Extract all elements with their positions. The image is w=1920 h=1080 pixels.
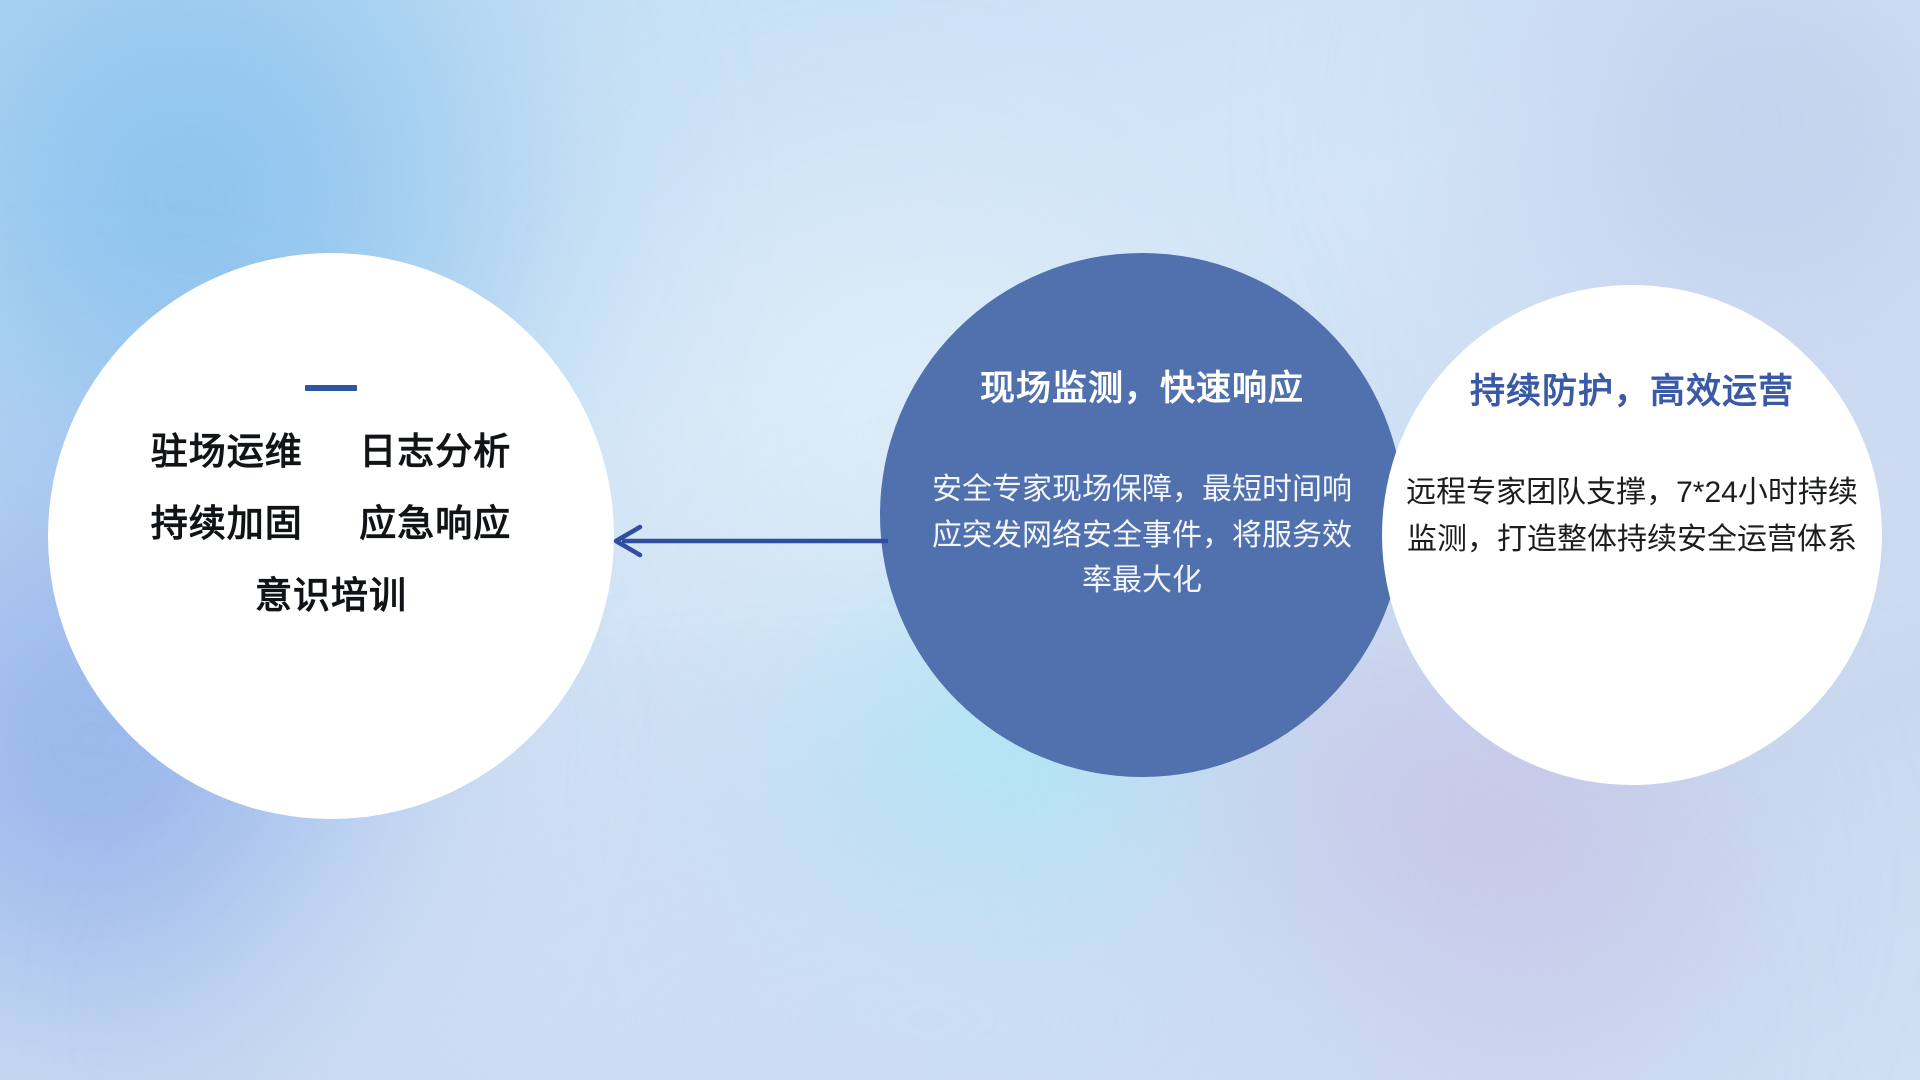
continuous-protection-title: 持续防护，高效运营: [1382, 363, 1882, 414]
continuous-protection-circle[interactable]: 持续防护，高效运营 远程专家团队支撑，7*24小时持续监测，打造整体持续安全运营…: [1382, 285, 1882, 785]
accent-divider-icon: [305, 385, 357, 391]
capability-row-2: 持续加固 应急响应: [48, 505, 614, 542]
left-circle-content: 驻场运维 日志分析 持续加固 应急响应 意识培训: [48, 385, 614, 614]
capability-label: 日志分析: [359, 431, 511, 472]
left-capability-circle[interactable]: 驻场运维 日志分析 持续加固 应急响应 意识培训: [48, 253, 614, 819]
onsite-monitoring-body: 安全专家现场保障，最短时间响应突发网络安全事件，将服务效率最大化: [924, 467, 1360, 604]
capability-label: 驻场运维: [151, 431, 303, 472]
infographic-canvas: 驻场运维 日志分析 持续加固 应急响应 意识培训 安全专家现场保障，最短时间响应…: [0, 0, 1920, 1080]
capability-row-3: 意识培训: [48, 577, 614, 614]
capability-label: 应急响应: [359, 503, 511, 544]
continuous-protection-body: 远程专家团队支撑，7*24小时持续监测，打造整体持续安全运营体系: [1392, 470, 1872, 563]
onsite-monitoring-circle[interactable]: 安全专家现场保障，最短时间响应突发网络安全事件，将服务效率最大化: [880, 253, 1404, 777]
flow-arrow-left-icon: [600, 523, 890, 559]
capability-label: 持续加固: [151, 503, 303, 544]
capability-row-1: 驻场运维 日志分析: [48, 433, 614, 470]
